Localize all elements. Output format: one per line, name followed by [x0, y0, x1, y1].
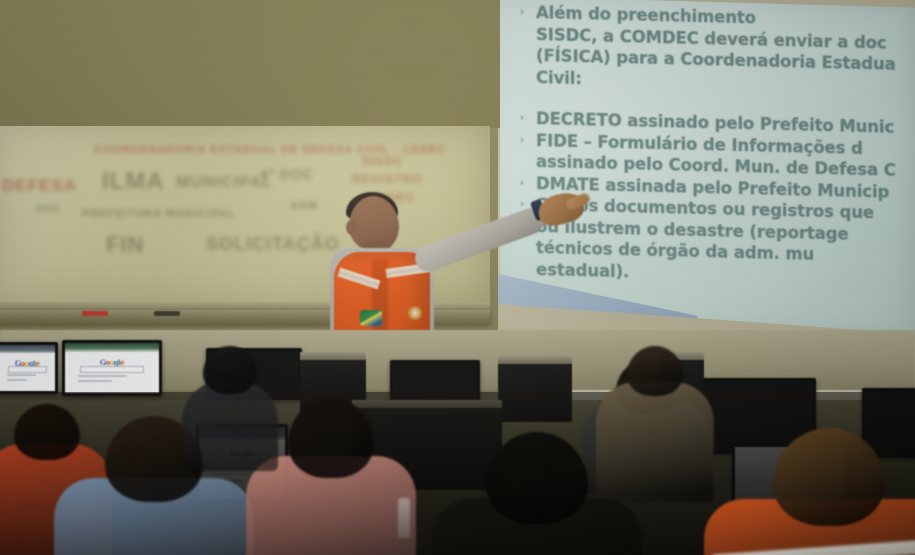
whiteboard-note: ADM	[290, 200, 318, 212]
water-bottle	[398, 498, 410, 538]
student-mid-dark	[432, 432, 642, 555]
audience-head	[203, 346, 257, 394]
whiteboard-marker	[82, 311, 108, 316]
audience-head	[486, 432, 588, 524]
pc-tower-top	[300, 352, 366, 360]
whiteboard-marker	[154, 311, 180, 316]
slide-text-body: Além do preenchimento›SISDC, a COMDEC de…	[536, 2, 915, 290]
page-text-line	[7, 374, 36, 376]
audience-head	[288, 398, 374, 478]
slide-bullet-icon: ›	[520, 108, 524, 130]
upper-wall-shadow	[0, 0, 500, 128]
vest-round-emblem	[408, 306, 422, 320]
classroom-photo-scene: COORDENADORIA ESTADUAL DE DEFESA CIVIL -…	[0, 0, 915, 555]
whiteboard-note: ILMA	[102, 168, 165, 196]
student-standing-back	[182, 346, 278, 484]
whiteboard-note: DEFESA	[2, 176, 77, 196]
google-search-box[interactable]	[8, 366, 47, 373]
whiteboard-note: DOC	[36, 204, 61, 215]
monitor-back-left-1[interactable]: Google	[0, 342, 58, 394]
page-text-line	[78, 380, 112, 382]
pc-tower-top	[498, 356, 572, 364]
monitor-screen[interactable]: Google	[65, 343, 159, 393]
presenter-ear	[346, 220, 358, 235]
slide-bullet-icon: ›	[520, 2, 524, 24]
page-text-line	[7, 379, 27, 381]
monitor-screen[interactable]: Google	[0, 345, 55, 391]
whiteboard-note: PREFEITURA MUNICIPAL	[82, 208, 235, 220]
whiteboard-note: REGISTRO	[352, 172, 423, 186]
browser-chrome-bar	[65, 343, 159, 352]
browser-chrome-bar	[0, 345, 55, 353]
audience-torso	[182, 381, 278, 471]
slide-bullet-icon: ›	[520, 129, 524, 151]
google-search-box[interactable]	[80, 366, 144, 373]
whiteboard-note: MUNICIPAL	[176, 174, 273, 192]
vest-flag-patch	[360, 310, 382, 326]
monitor-back-left-2[interactable]: Google	[62, 340, 162, 396]
whiteboard-note: 4ª DOC	[260, 166, 314, 182]
presenter-extended-arm	[412, 205, 548, 276]
whiteboard-note: SISDC	[362, 154, 404, 168]
student-orange-vest	[704, 428, 915, 555]
whiteboard-note: FIN	[106, 232, 144, 258]
slide-bullet-block: Além do preenchimento›SISDC, a COMDEC de…	[536, 2, 915, 98]
audience-head	[627, 346, 683, 396]
audience-head	[773, 428, 885, 526]
slide-bullet-block: Outros documentos ou registros que›ou il…	[536, 194, 915, 290]
page-text-line	[78, 375, 127, 377]
